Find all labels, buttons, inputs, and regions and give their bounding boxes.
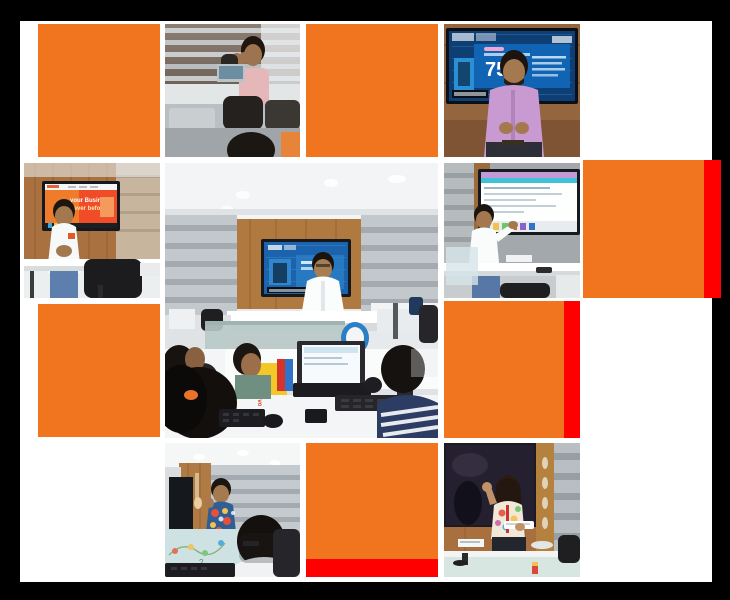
collage-tile-r1c1[interactable] bbox=[38, 24, 160, 157]
photo-presenter-75-percent-slide: 75% bbox=[444, 24, 580, 157]
orange-color-block bbox=[583, 160, 721, 298]
collage-tile-r2c4[interactable] bbox=[583, 160, 721, 298]
photo-office-discussion-floral-shirt: ? bbox=[165, 443, 300, 577]
collage-tile-r3c1[interactable] bbox=[38, 304, 160, 437]
orange-color-block bbox=[306, 24, 438, 157]
collage-tile-center-large[interactable]: Lenovo bbox=[165, 163, 438, 438]
photo-training-room-wide: Lenovo bbox=[165, 163, 438, 438]
collage-tile-r3c3[interactable] bbox=[444, 301, 580, 438]
collage-tile-r1c4[interactable]: 75% bbox=[444, 24, 580, 157]
orange-color-block bbox=[444, 301, 580, 438]
red-accent-stripe bbox=[564, 301, 580, 438]
collage-tile-r1c2[interactable] bbox=[165, 24, 300, 157]
red-accent-stripe bbox=[306, 559, 438, 577]
photo-presenter-woman-notebook bbox=[444, 443, 580, 577]
photo-presenter-pointing-screen bbox=[444, 163, 580, 298]
orange-color-block bbox=[306, 443, 438, 577]
photo-presenter-orange-slide: your Business never before bbox=[24, 163, 160, 298]
red-accent-stripe bbox=[704, 160, 721, 298]
photo-office-meeting-woman-speaking bbox=[165, 24, 300, 157]
collage-tile-r4c3[interactable] bbox=[306, 443, 438, 577]
collage-tile-r4c2[interactable]: ? bbox=[165, 443, 300, 577]
collage-tile-r4c4[interactable] bbox=[444, 443, 580, 577]
collage-tile-r2c1[interactable]: your Business never before bbox=[24, 163, 160, 298]
orange-color-block bbox=[38, 24, 160, 157]
orange-color-block bbox=[38, 304, 160, 437]
collage-sheet: 75% bbox=[20, 21, 712, 582]
screenshot-canvas: 75% bbox=[0, 0, 730, 600]
collage-tile-r2c3[interactable] bbox=[444, 163, 580, 298]
collage-tile-r1c3[interactable] bbox=[306, 24, 438, 157]
